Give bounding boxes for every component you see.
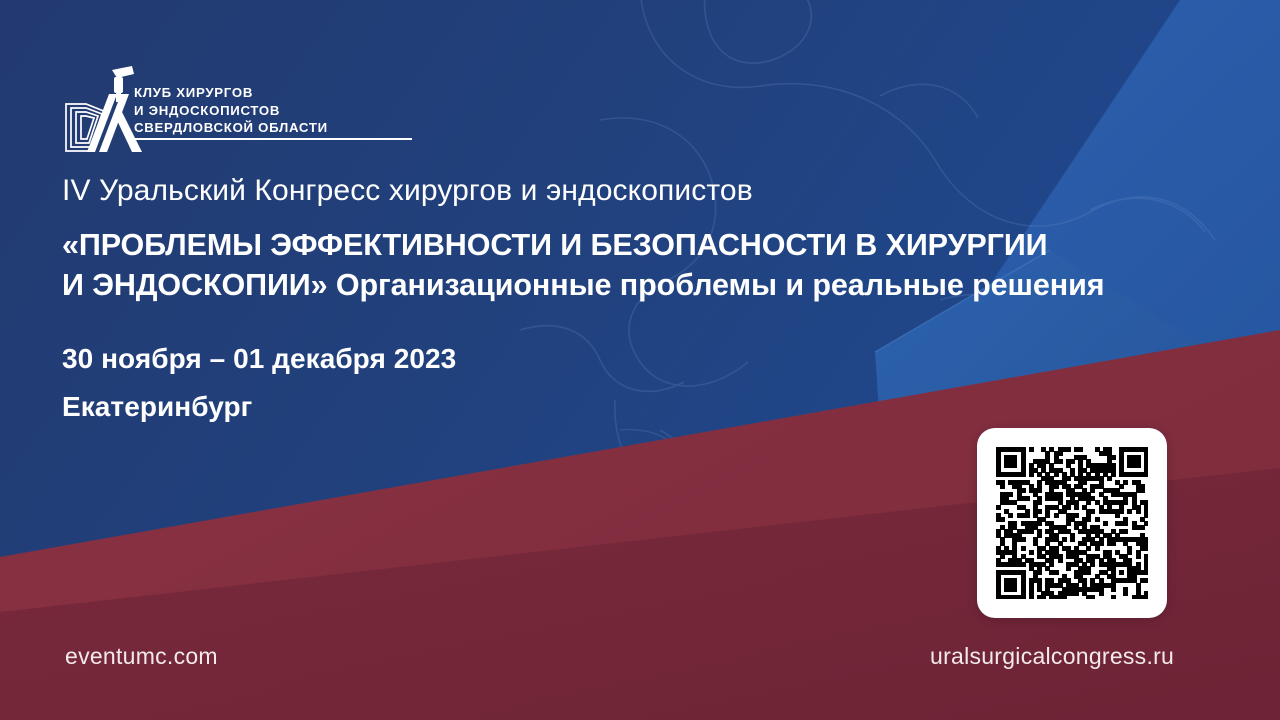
congress-title-quoted-tail: И ЭНДОСКОПИИ» — [62, 268, 327, 302]
event-dates: 30 ноября – 01 декабря 2023 — [62, 335, 456, 383]
headline-block: IV Уральский Конгресс хирургов и эндоско… — [62, 172, 1222, 305]
congress-kicker: IV Уральский Конгресс хирургов и эндоско… — [62, 172, 1222, 210]
logo-line-1: КЛУБ ХИРУРГОВ — [134, 84, 364, 102]
qr-code-icon[interactable] — [996, 447, 1148, 599]
event-details: 30 ноября – 01 декабря 2023 Екатеринбург — [62, 335, 456, 431]
qr-code-card[interactable] — [977, 428, 1167, 618]
logo-line-3: СВЕРДЛОВСКОЙ ОБЛАСТИ — [134, 119, 364, 137]
logo-line-2: И ЭНДОСКОПИСТОВ — [134, 102, 364, 120]
congress-title-line-2: И ЭНДОСКОПИИ» Организационные проблемы и… — [62, 265, 1222, 305]
event-banner: КЛУБ ХИРУРГОВ И ЭНДОСКОПИСТОВ СВЕРДЛОВСК… — [0, 0, 1280, 720]
logo-wordmark: КЛУБ ХИРУРГОВ И ЭНДОСКОПИСТОВ СВЕРДЛОВСК… — [134, 84, 364, 137]
congress-subtitle: Организационные проблемы и реальные реше… — [336, 268, 1105, 302]
congress-title-line-1: «ПРОБЛЕМЫ ЭФФЕКТИВНОСТИ И БЕЗОПАСНОСТИ В… — [62, 225, 1222, 265]
logo-underline — [134, 138, 412, 140]
event-city: Екатеринбург — [62, 383, 456, 431]
footer-link-eventumc[interactable]: eventumc.com — [65, 643, 218, 670]
footer-link-congress[interactable]: uralsurgicalcongress.ru — [930, 643, 1174, 670]
club-logo: КЛУБ ХИРУРГОВ И ЭНДОСКОПИСТОВ СВЕРДЛОВСК… — [62, 64, 362, 156]
